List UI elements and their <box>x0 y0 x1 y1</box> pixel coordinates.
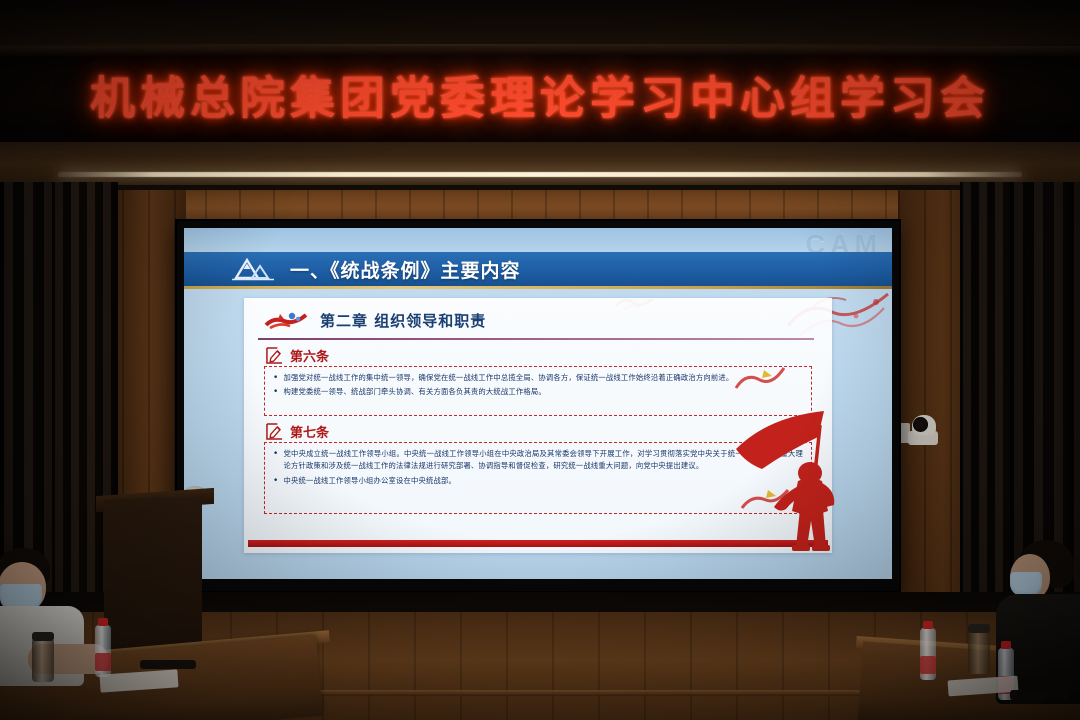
bullet-dot: • <box>273 372 279 384</box>
bullet-text: 构建党委统一领导、统战部门牵头协调、有关方面各负其责的大统战工作格局。 <box>284 386 546 398</box>
conference-room-photo: 机械总院集团党委理论学习中心组学习会 CAM <box>0 0 1080 720</box>
ptz-camera-icon <box>898 415 938 449</box>
slide-title-bar: 一、《统战条例》主要内容 <box>184 252 892 286</box>
attendee-left <box>0 548 138 688</box>
bullet-text: 党中央成立统一战线工作领导小组。中央统一战线工作领导小组在中央政治局及其常委会领… <box>284 448 803 473</box>
bullet-item: • 加强党对统一战线工作的集中统一领导，确保党在统一战线工作中总揽全局、协调各方… <box>273 372 803 384</box>
bullet-dot: • <box>273 386 279 398</box>
wall-valance <box>0 142 1080 190</box>
slide-title-underline <box>184 286 892 289</box>
water-bottle <box>95 625 111 677</box>
bullet-item: • 党中央成立统一战线工作领导小组。中央统一战线工作领导小组在中央政治局及其常委… <box>273 448 803 473</box>
chapter-divider <box>258 338 814 340</box>
article-header-6: 第六条 <box>266 346 329 365</box>
article-6-bullets: • 加强党对统一战线工作的集中统一领导，确保党在统一战线工作中总揽全局、协调各方… <box>265 367 811 405</box>
led-banner: 机械总院集团党委理论学习中心组学习会 <box>0 46 1080 142</box>
tea-cup <box>968 630 990 674</box>
article-label-7: 第七条 <box>290 422 329 441</box>
projection-screen: CAM 一、《统战条例》主要内容 <box>184 228 892 579</box>
ceiling <box>0 0 1080 46</box>
bullet-dot: • <box>273 475 279 487</box>
ceiling-light-strip <box>58 172 1022 177</box>
article-header-7: 第七条 <box>266 422 329 441</box>
bullet-item: • 构建党委统一领导、统战部门牵头协调、有关方面各负其责的大统战工作格局。 <box>273 386 803 398</box>
presentation-slide: CAM 一、《统战条例》主要内容 <box>184 228 892 579</box>
bullet-text: 加强党对统一战线工作的集中统一领导，确保党在统一战线工作中总揽全局、协调各方，保… <box>284 372 734 384</box>
chapter-title: 第二章 组织领导和职责 <box>320 310 486 331</box>
pen-edit-icon <box>266 423 283 440</box>
chapter-heading-row: 第二章 组织领导和职责 <box>264 310 486 331</box>
slide-title: 一、《统战条例》主要内容 <box>290 256 521 283</box>
article-label-6: 第六条 <box>290 346 329 365</box>
bullet-item: • 中央统一战线工作领导小组办公室设在中央统战部。 <box>273 475 803 487</box>
desk-microphone <box>1010 690 1068 700</box>
led-banner-text: 机械总院集团党委理论学习中心组学习会 <box>0 62 1080 127</box>
red-ribbon-icon <box>264 311 310 331</box>
bullet-dot: • <box>273 448 279 473</box>
soldier-with-red-flag-silhouette <box>728 407 878 557</box>
attendee-right-face-mask <box>1010 572 1042 596</box>
desk-microphone <box>140 660 196 669</box>
tea-cup <box>32 638 54 682</box>
water-bottle <box>920 628 936 680</box>
pen-edit-icon <box>266 347 283 364</box>
camera-lens <box>913 417 928 432</box>
bullet-text: 中央统一战线工作领导小组办公室设在中央统战部。 <box>284 475 456 487</box>
mountain-logo-icon <box>230 255 276 283</box>
slide-top-band <box>184 228 892 252</box>
